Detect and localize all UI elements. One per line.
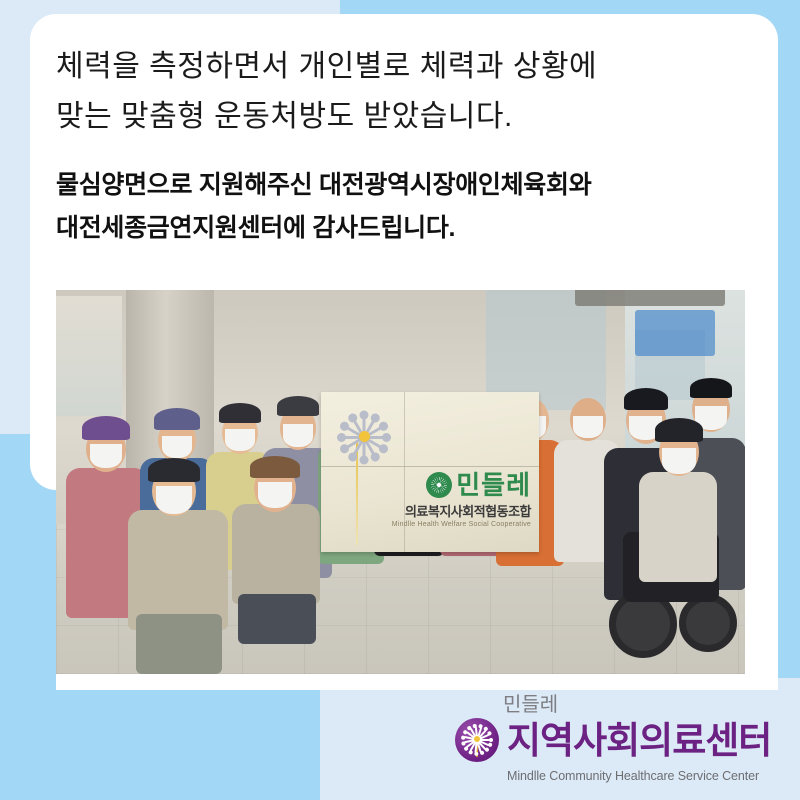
photo-person-cap [82,416,130,440]
banner-dandelion-icon [329,406,399,466]
photo-person-mask [662,448,696,474]
photo-person-mask [90,444,122,468]
photo-ceiling-light [575,290,725,306]
photo-person-mask [156,486,192,514]
dandelion-circle-icon [455,718,499,762]
photo-person [639,414,717,582]
photo-person-body [232,504,320,604]
photo-wheelchair-wheel [679,594,737,652]
footer-logo-title: 지역사회의료센터 [507,722,771,759]
banner-logo-row: 민들레 [392,472,531,498]
photo-person-hair [690,378,732,398]
banner-subtitle-kr: 의료복지사회적협동조합 [392,501,531,520]
text-block: 체력을 측정하면서 개인별로 체력과 상황에 맞는 맞춤형 운동처방도 받았습니… [56,42,756,250]
footer-logo-main: 지역사회의료센터 [455,718,785,762]
photo-person-legs [238,594,316,644]
banner-subtitle-en: Mindlle Health Welfare Social Cooperativ… [392,521,531,528]
photo-person-body [128,510,228,630]
photo-banner: 민들레 의료복지사회적협동조합 Mindlle Health Welfare S… [321,392,539,552]
photo-person-mask [573,416,603,438]
photo-person-cap [219,403,261,423]
photo-person-body [639,472,717,582]
dandelion-icon [426,472,452,498]
photo-wall-sign [635,310,715,356]
photo-person-mask [258,482,292,508]
photo-person [122,444,232,674]
footer-logo: 민들레 [455,694,785,783]
paragraph-bold: 물심양면으로 지원해주신 대전광역시장애인체육회와 대전세종금연지원센터에 감사… [56,164,756,250]
banner-logo: 민들레 의료복지사회적협동조합 Mindlle Health Welfare S… [392,472,531,528]
photo-person-hair [624,388,668,410]
photo-person-hair [250,456,300,478]
group-photo: 민들레 의료복지사회적협동조합 Mindlle Health Welfare S… [56,290,745,674]
photo-person [228,444,324,644]
banner-brand-kr: 민들레 [456,472,531,498]
poster-canvas: 체력을 측정하면서 개인별로 체력과 상황에 맞는 맞춤형 운동처방도 받았습니… [0,0,800,800]
photo-person-hair [655,418,703,442]
photo-person-cap [154,408,200,430]
photo-person-cap [277,396,319,416]
photo-person-legs [136,614,222,674]
footer-logo-small-label: 민들레 [503,694,785,716]
footer-logo-english: Mindlle Community Healthcare Service Cen… [507,769,785,783]
paragraph-light: 체력을 측정하면서 개인별로 체력과 상황에 맞는 맞춤형 운동처방도 받았습니… [56,42,756,142]
banner-dandelion-core-icon [359,431,370,442]
photo-person-hair [148,458,200,482]
